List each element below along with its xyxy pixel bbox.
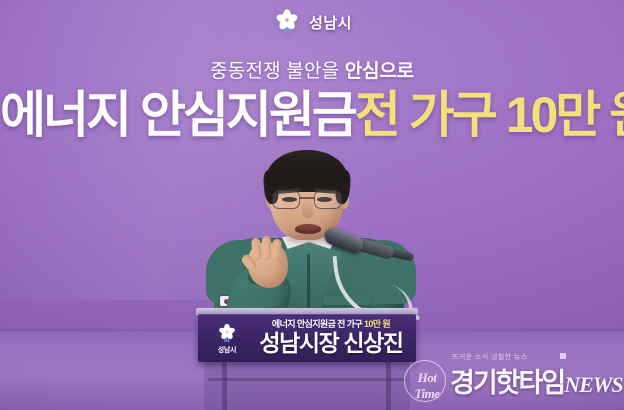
podium: 성남시 에너지 안심지원금 전 가구 10만 원 성남시장 신상진	[196, 308, 418, 410]
podium-name-sign: 성남시 에너지 안심지원금 전 가구 10만 원 성남시장 신상진	[198, 314, 416, 362]
glasses-lens-right	[314, 190, 342, 209]
press-conference-photo: 성남시 중동전쟁 불안을 안심으로 에너지 안심지원금전 가구 10만 원	[0, 0, 624, 410]
watermark-brand-en: NEWS	[564, 372, 622, 397]
seongnam-flower-icon	[216, 323, 238, 344]
banner-subtitle-lead: 중동전쟁 불안을	[210, 61, 345, 82]
news-watermark: Hot Time 뜨거운 소식 냉철한 뉴스 경기핫타임NEWS	[404, 352, 620, 404]
podium-sign-name: 신상진	[343, 330, 402, 356]
podium-shelf	[208, 378, 406, 381]
watermark-square-mark	[560, 353, 566, 359]
speaker-finger	[262, 236, 271, 260]
podium-sign-subtitle: 에너지 안심지원금 전 가구 10만 원	[250, 318, 412, 330]
speaker-hair	[266, 150, 348, 192]
podium-leg	[386, 362, 391, 410]
headline-yellow-part: 전 가구 10만 원	[355, 87, 624, 143]
hot-time-script-text: Hot Time	[408, 370, 446, 402]
podium-city-logo: 성남시	[207, 321, 247, 357]
seongnam-flower-icon	[272, 7, 302, 37]
banner-headline: 에너지 안심지원금전 가구 10만 원	[0, 90, 624, 140]
podium-sign-office: 성남시장	[259, 330, 338, 356]
microphone-head	[322, 225, 365, 256]
watermark-brand-ko: 경기핫타임	[450, 368, 564, 398]
watermark-brand: 경기핫타임NEWS	[450, 361, 623, 400]
headline-white-part: 에너지 안심지원금	[0, 87, 355, 143]
banner-subtitle-emphasis: 안심으로	[345, 61, 414, 82]
podium-sign-text: 에너지 안심지원금 전 가구 10만 원 성남시장 신상진	[250, 318, 412, 357]
banner-subtitle: 중동전쟁 불안을 안심으로	[0, 56, 624, 83]
podium-sign-subtitle-highlight: 10만 원	[364, 319, 390, 329]
podium-city-logo-label: 성남시	[218, 345, 236, 355]
city-logo-label: 성남시	[309, 12, 352, 33]
podium-sign-title: 성남시장 신상진	[250, 330, 412, 357]
podium-leg	[222, 362, 227, 410]
seongnam-city-logo: 성남시	[0, 7, 624, 37]
podium-sign-subtitle-text: 에너지 안심지원금 전 가구	[272, 319, 364, 329]
glasses-bridge	[300, 197, 314, 199]
speaker-nose	[302, 202, 313, 218]
podium-body	[204, 362, 410, 410]
glasses-lens-left	[272, 190, 300, 209]
